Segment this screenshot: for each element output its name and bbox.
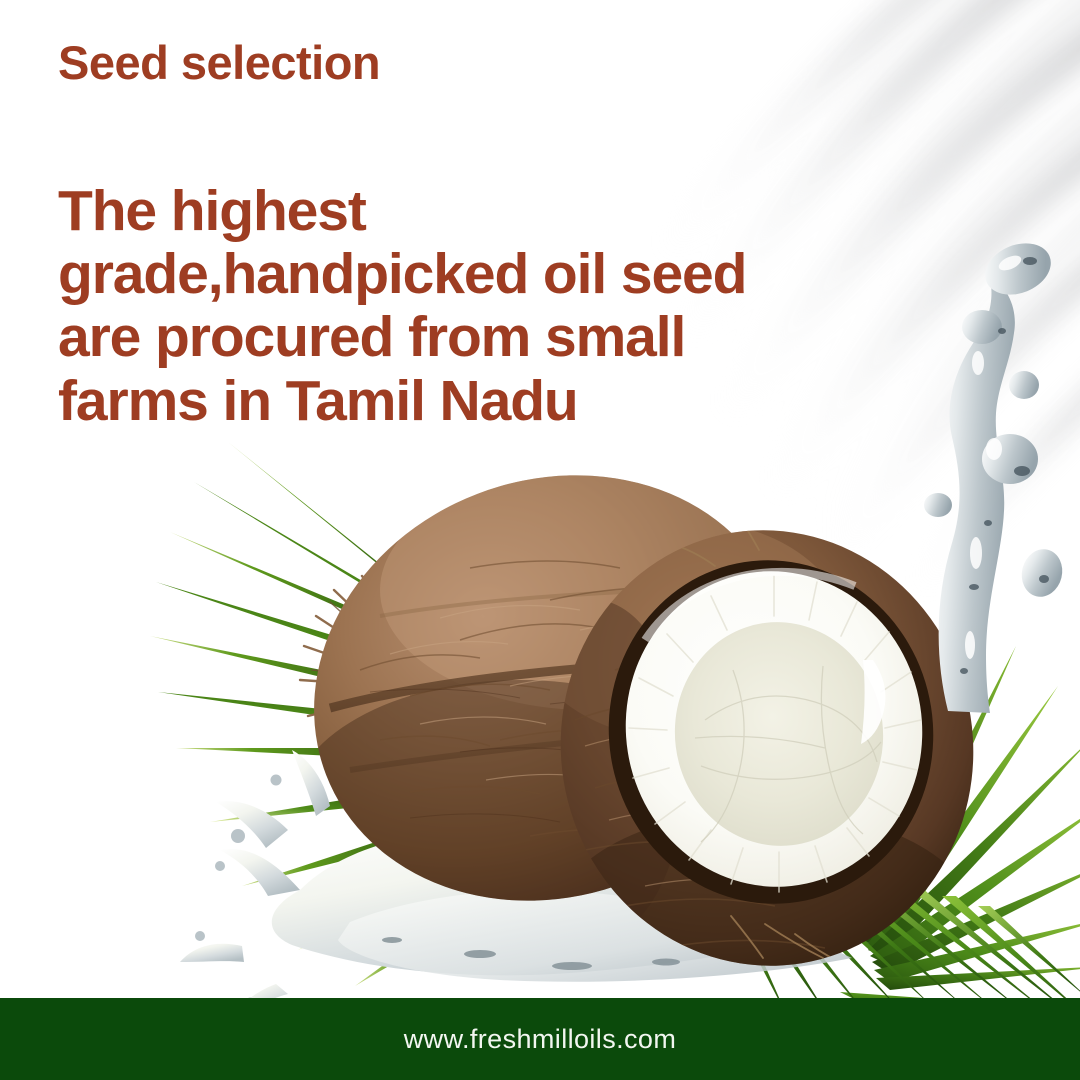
website-url[interactable]: www.freshmilloils.com (404, 1024, 676, 1055)
poster-canvas: Seed selection The highest grade,handpic… (0, 0, 1080, 1080)
coconut-milk-splash-vertical (890, 235, 1080, 715)
page-title: Seed selection (58, 38, 798, 88)
footer-band: www.freshmilloils.com (0, 998, 1080, 1080)
body-copy: The highest grade,handpicked oil seed ar… (58, 88, 798, 433)
body-copy-line-3: are procured from small (58, 306, 798, 369)
body-copy-line-4: farms in Tamil Nadu (58, 370, 798, 433)
body-copy-line-2: grade,handpicked oil seed (58, 243, 798, 306)
poster-copy-block: Seed selection The highest grade,handpic… (58, 38, 798, 433)
body-copy-line-1: The highest (58, 180, 798, 243)
